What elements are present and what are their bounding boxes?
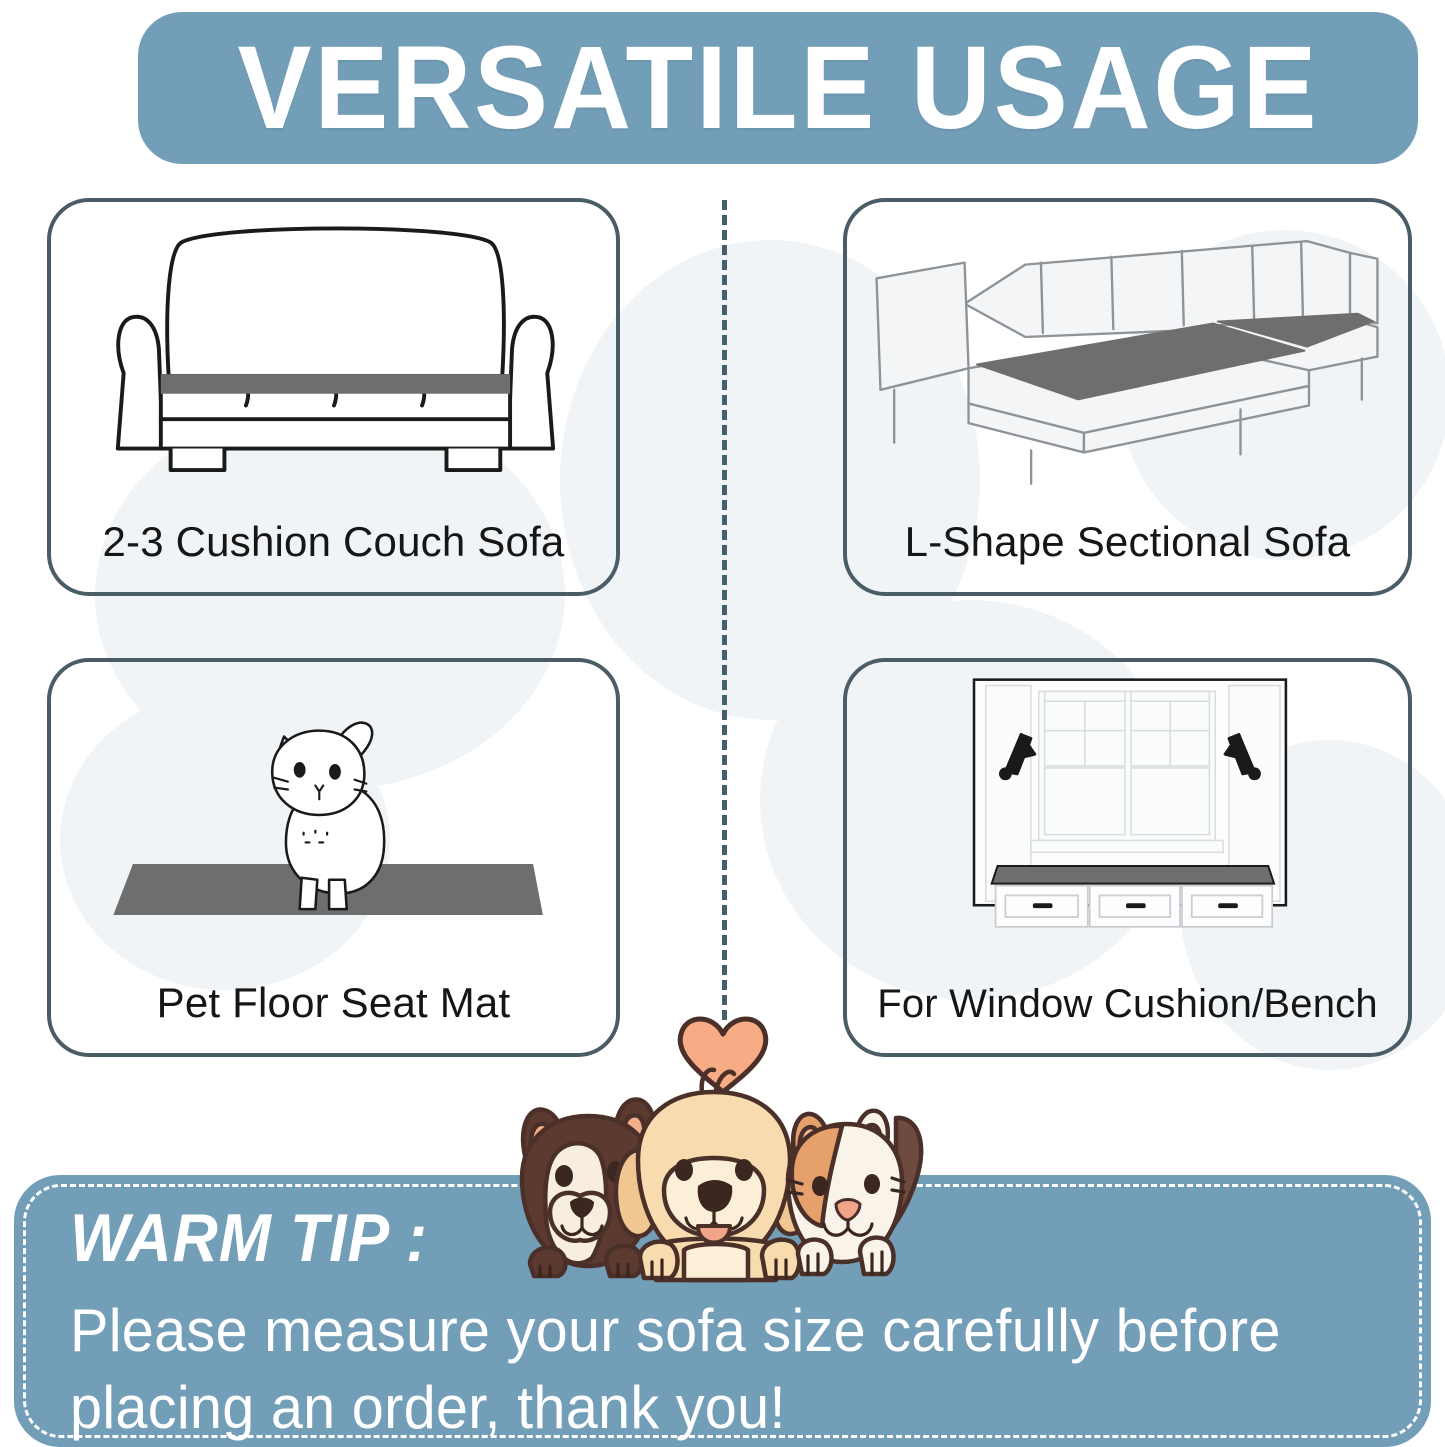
usage-card-pet-floor-mat[interactable]: Pet Floor Seat Mat (47, 658, 620, 1057)
l-shape-sectional-sofa-icon (847, 202, 1408, 491)
heart-icon (680, 1019, 766, 1092)
cushion-cover-strip (161, 374, 510, 394)
center-dashed-divider (722, 200, 727, 1020)
page-title: VERSATILE USAGE (237, 29, 1319, 147)
header-banner: VERSATILE USAGE (138, 12, 1418, 164)
usage-card-l-shape-sofa[interactable]: L-Shape Sectional Sofa (843, 198, 1412, 596)
usage-card-couch-sofa[interactable]: 2-3 Cushion Couch Sofa (47, 198, 620, 596)
cat-on-floor-mat-icon (51, 662, 616, 951)
usage-card-window-bench[interactable]: For Window Cushion/Bench (843, 658, 1412, 1057)
warm-tip-body: Please measure your sofa size carefully … (70, 1293, 1347, 1447)
infographic-page: VERSATILE USAGE (0, 0, 1445, 1447)
card-label-couch: 2-3 Cushion Couch Sofa (51, 518, 616, 566)
couch-sofa-icon (51, 202, 616, 491)
window-bench-seat-icon (847, 662, 1408, 951)
pets-illustration (488, 1000, 958, 1305)
warm-tip-heading: WARM TIP : (70, 1199, 428, 1277)
card-label-lshape: L-Shape Sectional Sofa (847, 518, 1408, 566)
